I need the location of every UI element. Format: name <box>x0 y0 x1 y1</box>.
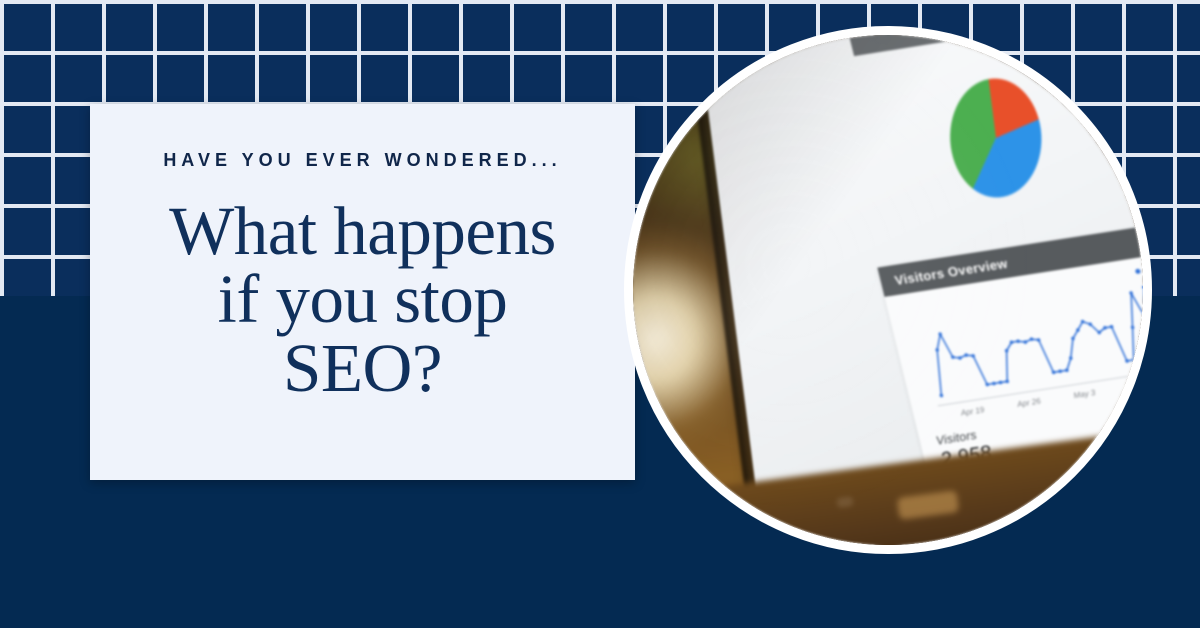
red-swatch-icon <box>1060 87 1071 97</box>
headline-card: HAVE YOU EVER WONDERED... What happens i… <box>90 104 635 480</box>
photo-inner: 3,0.. Search Eng 2,910.00 (38.04%) Refer… <box>633 35 1143 545</box>
headline-line-2: if you stop <box>169 265 556 333</box>
headline-line-3: SEO? <box>169 334 556 402</box>
visitors-overview-panel: Visitors Overview Visitors <box>877 217 1143 472</box>
laptop-hinge-detail <box>836 496 853 508</box>
green-swatch-icon <box>1051 50 1062 60</box>
legend-row-search-engines: Search Eng 2,910.00 (38.04%) <box>1051 35 1143 77</box>
analytics-photo-circle: 3,0.. Search Eng 2,910.00 (38.04%) Refer… <box>624 26 1152 554</box>
poster-canvas: HAVE YOU EVER WONDERED... What happens i… <box>0 0 1200 628</box>
pie-chart-legend: 3,0.. Search Eng 2,910.00 (38.04%) Refer… <box>1046 35 1143 114</box>
laptop-screen: 3,0.. Search Eng 2,910.00 (38.04%) Refer… <box>693 35 1143 487</box>
traffic-sources-pie-chart <box>943 71 1048 206</box>
page-title: What happens if you stop SEO? <box>169 197 556 402</box>
eyebrow-text: HAVE YOU EVER WONDERED... <box>163 150 561 171</box>
series-dot-icon <box>1135 268 1141 274</box>
headline-line-1: What happens <box>169 197 556 265</box>
